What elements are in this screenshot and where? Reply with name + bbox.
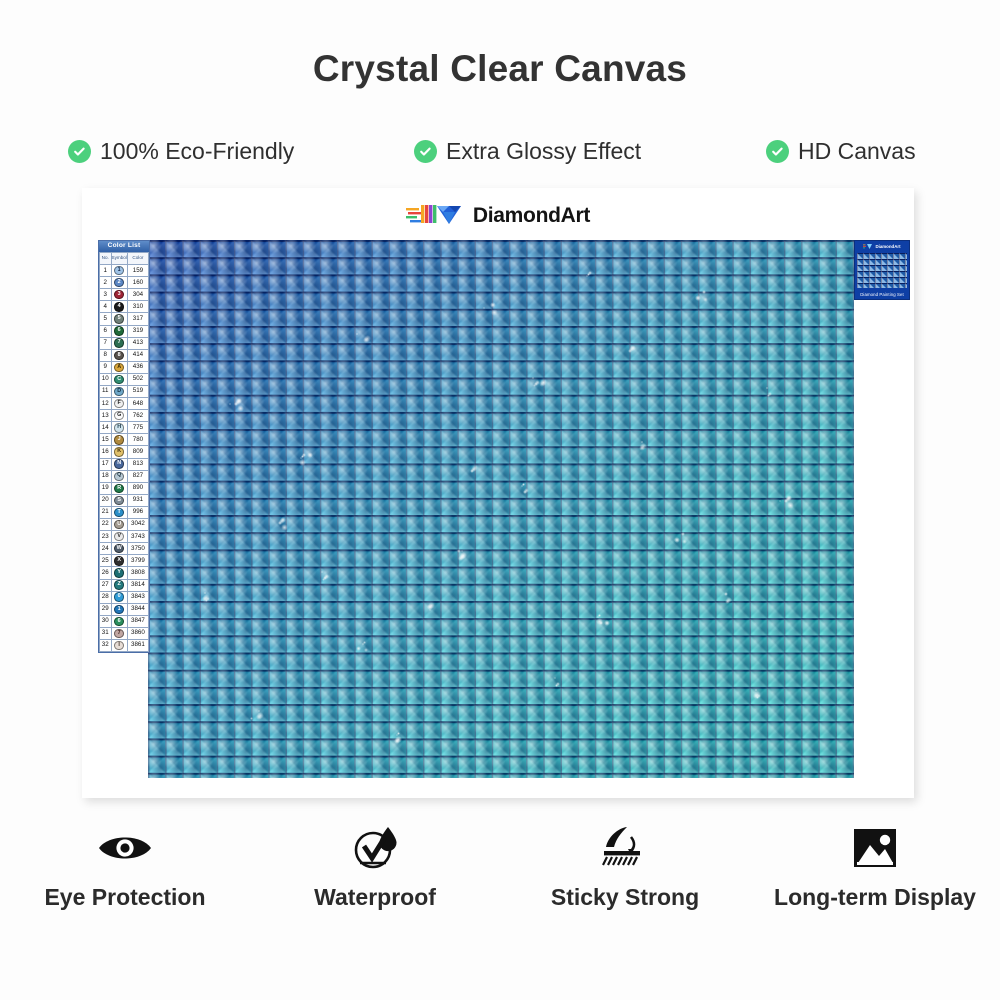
symbol-swatch: I xyxy=(114,641,123,650)
color-list-row: 88414 xyxy=(100,349,149,361)
symbol-swatch: U xyxy=(114,520,123,529)
color-list-row: 10C502 xyxy=(100,373,149,385)
color-row-symbol: S xyxy=(111,494,127,506)
symbol-swatch: Q xyxy=(114,472,123,481)
color-row-code: 414 xyxy=(127,349,148,361)
badge-hd-canvas: HD Canvas xyxy=(766,138,916,165)
kit-inset-logo: DiamondArt xyxy=(855,241,909,252)
color-list-table: No. Symbol Color 11159221603330444310553… xyxy=(99,252,149,652)
color-list-row: 9A436 xyxy=(100,361,149,373)
feature-label: Long-term Display xyxy=(774,884,976,911)
color-list-row: 16K809 xyxy=(100,446,149,458)
color-row-symbol: U xyxy=(111,519,127,531)
color-row-number: 27 xyxy=(100,579,112,591)
color-row-code: 648 xyxy=(127,398,148,410)
color-row-number: 15 xyxy=(100,434,112,446)
color-row-symbol: 1 xyxy=(111,265,127,277)
color-row-code: 160 xyxy=(127,277,148,289)
color-row-number: 20 xyxy=(100,494,112,506)
color-row-symbol: W xyxy=(111,543,127,555)
color-row-code: 3814 xyxy=(127,579,148,591)
color-list-row: 14H775 xyxy=(100,422,149,434)
color-row-code: 3861 xyxy=(127,639,148,651)
color-list-title: Color List xyxy=(99,241,149,252)
symbol-swatch: A xyxy=(114,363,123,372)
color-row-symbol: 7 xyxy=(111,337,127,349)
color-row-number: 26 xyxy=(100,567,112,579)
color-list-row: 3173860 xyxy=(100,627,149,639)
color-row-symbol: Z xyxy=(111,579,127,591)
color-row-symbol: R xyxy=(111,482,127,494)
color-row-symbol: F xyxy=(111,398,127,410)
color-row-number: 14 xyxy=(100,422,112,434)
color-row-number: 23 xyxy=(100,531,112,543)
symbol-swatch: D xyxy=(114,387,123,396)
check-circle-icon xyxy=(68,140,91,163)
color-row-code: 3750 xyxy=(127,543,148,555)
color-row-symbol: 6 xyxy=(111,615,127,627)
feature-label: Eye Protection xyxy=(44,884,205,911)
color-row-code: 519 xyxy=(127,386,148,398)
color-row-code: 775 xyxy=(127,422,148,434)
color-row-symbol: 2 xyxy=(111,277,127,289)
color-row-number: 29 xyxy=(100,603,112,615)
col-header-no: No. xyxy=(100,252,112,264)
color-row-symbol: T xyxy=(111,506,127,518)
color-list-row: 12F648 xyxy=(100,398,149,410)
color-row-number: 4 xyxy=(100,301,112,313)
color-list-row: 77413 xyxy=(100,337,149,349)
color-row-code: 3860 xyxy=(127,627,148,639)
color-row-number: 16 xyxy=(100,446,112,458)
feature-eye-protection: Eye Protection xyxy=(0,824,250,944)
color-row-code: 319 xyxy=(127,325,148,337)
color-row-code: 890 xyxy=(127,482,148,494)
color-row-number: 28 xyxy=(100,591,112,603)
color-row-number: 30 xyxy=(100,615,112,627)
color-list-row: 11159 xyxy=(100,265,149,277)
color-list-row: 20S931 xyxy=(100,494,149,506)
color-row-number: 3 xyxy=(100,289,112,301)
feature-sticky-strong: Sticky Strong xyxy=(500,824,750,944)
color-row-symbol: 1 xyxy=(111,603,127,615)
color-row-code: 413 xyxy=(127,337,148,349)
color-row-code: 304 xyxy=(127,289,148,301)
symbol-swatch: K xyxy=(114,447,123,456)
waterdrop-check-icon xyxy=(351,824,399,872)
color-row-number: 32 xyxy=(100,639,112,651)
badge-eco-friendly: 100% Eco-Friendly xyxy=(68,138,294,165)
color-row-code: 3847 xyxy=(127,615,148,627)
color-row-number: 25 xyxy=(100,555,112,567)
color-row-symbol: D xyxy=(111,386,127,398)
color-row-number: 31 xyxy=(100,627,112,639)
symbol-swatch: 8 xyxy=(114,351,123,360)
color-row-code: 159 xyxy=(127,265,148,277)
color-list-row: 13G762 xyxy=(100,410,149,422)
color-list-row: 17N813 xyxy=(100,458,149,470)
eye-icon xyxy=(97,824,153,872)
color-row-symbol: 8 xyxy=(111,349,127,361)
color-row-code: 3844 xyxy=(127,603,148,615)
feature-label: Sticky Strong xyxy=(551,884,699,911)
symbol-swatch: S xyxy=(114,496,123,505)
color-list-row: 25X3799 xyxy=(100,555,149,567)
brand-logo: DiamondArt xyxy=(82,198,914,234)
color-row-symbol: 4 xyxy=(111,301,127,313)
color-row-number: 18 xyxy=(100,470,112,482)
color-list-row: 55317 xyxy=(100,313,149,325)
symbol-swatch: T xyxy=(114,508,123,517)
symbol-swatch: J xyxy=(114,435,123,444)
color-row-symbol: 6 xyxy=(111,325,127,337)
color-row-number: 17 xyxy=(100,458,112,470)
color-list-row: 44310 xyxy=(100,301,149,313)
feature-label: Waterproof xyxy=(314,884,436,911)
symbol-swatch: 2 xyxy=(114,278,123,287)
color-row-number: 24 xyxy=(100,543,112,555)
color-list-row: 66319 xyxy=(100,325,149,337)
picture-icon xyxy=(852,824,898,872)
color-list-row: 23V3743 xyxy=(100,531,149,543)
color-list-row: 19R890 xyxy=(100,482,149,494)
color-row-code: 809 xyxy=(127,446,148,458)
color-row-code: 3808 xyxy=(127,567,148,579)
color-row-code: 827 xyxy=(127,470,148,482)
color-list-row: 21T996 xyxy=(100,506,149,518)
color-row-symbol: I xyxy=(111,639,127,651)
color-row-code: 502 xyxy=(127,373,148,385)
color-row-symbol: 0 xyxy=(111,591,127,603)
symbol-swatch: W xyxy=(114,544,123,553)
feature-row: Eye Protection Waterproof xyxy=(0,824,1000,944)
symbol-swatch: N xyxy=(114,459,123,468)
symbol-swatch: C xyxy=(114,375,123,384)
color-row-number: 10 xyxy=(100,373,112,385)
color-row-symbol: X xyxy=(111,555,127,567)
symbol-swatch: X xyxy=(114,556,123,565)
feature-badge-row: 100% Eco-Friendly Extra Glossy Effect HD… xyxy=(0,131,1000,171)
diamond-mosaic-artwork xyxy=(148,240,854,778)
color-row-code: 3743 xyxy=(127,531,148,543)
color-row-code: 310 xyxy=(127,301,148,313)
symbol-swatch: V xyxy=(114,532,123,541)
diamond-logo-icon xyxy=(406,201,466,232)
color-list-row: 27Z3814 xyxy=(100,579,149,591)
feature-waterproof: Waterproof xyxy=(250,824,500,944)
color-row-number: 22 xyxy=(100,519,112,531)
adhesive-brush-icon xyxy=(600,824,650,872)
color-row-code: 762 xyxy=(127,410,148,422)
symbol-swatch: 6 xyxy=(114,326,123,335)
symbol-swatch: R xyxy=(114,484,123,493)
symbol-swatch: F xyxy=(114,399,123,408)
color-row-number: 5 xyxy=(100,313,112,325)
color-row-number: 13 xyxy=(100,410,112,422)
symbol-swatch: G xyxy=(114,411,123,420)
color-row-number: 2 xyxy=(100,277,112,289)
color-row-code: 780 xyxy=(127,434,148,446)
color-row-symbol: Q xyxy=(111,470,127,482)
feature-long-term-display: Long-term Display xyxy=(750,824,1000,944)
check-circle-icon xyxy=(414,140,437,163)
color-list-row: 18Q827 xyxy=(100,470,149,482)
color-row-code: 931 xyxy=(127,494,148,506)
color-row-symbol: N xyxy=(111,458,127,470)
diamond-tile-grid xyxy=(148,240,854,778)
color-list-row: 22U3042 xyxy=(100,519,149,531)
color-list-row: 22160 xyxy=(100,277,149,289)
color-list-row: 3063847 xyxy=(100,615,149,627)
color-row-code: 996 xyxy=(127,506,148,518)
color-row-symbol: H xyxy=(111,422,127,434)
color-row-symbol: 5 xyxy=(111,313,127,325)
symbol-swatch: 4 xyxy=(114,302,123,311)
color-list-header-row: No. Symbol Color xyxy=(100,252,149,264)
color-row-number: 19 xyxy=(100,482,112,494)
color-row-number: 12 xyxy=(100,398,112,410)
symbol-swatch: 5 xyxy=(114,314,123,323)
color-list-row: 15J780 xyxy=(100,434,149,446)
color-list-row: 2913844 xyxy=(100,603,149,615)
symbol-swatch: Y xyxy=(114,568,123,577)
symbol-swatch: 7 xyxy=(114,629,123,638)
color-list-row: 24W3750 xyxy=(100,543,149,555)
color-list-legend: Color List No. Symbol Color 111592216033… xyxy=(98,240,150,653)
color-row-code: 3799 xyxy=(127,555,148,567)
col-header-symbol: Symbol xyxy=(111,252,127,264)
color-row-symbol: V xyxy=(111,531,127,543)
badge-label: HD Canvas xyxy=(798,138,916,165)
color-row-number: 21 xyxy=(100,506,112,518)
color-list-row: 32I3861 xyxy=(100,639,149,651)
color-row-symbol: J xyxy=(111,434,127,446)
color-row-code: 3843 xyxy=(127,591,148,603)
symbol-swatch: 6 xyxy=(114,617,123,626)
col-header-color: Color xyxy=(127,252,148,264)
diamond-logo-icon xyxy=(863,243,873,250)
badge-label: Extra Glossy Effect xyxy=(446,138,641,165)
page-title: Crystal Clear Canvas xyxy=(0,48,1000,90)
kit-inset-caption: Diamond Painting Set xyxy=(855,292,909,297)
symbol-swatch: 1 xyxy=(114,605,123,614)
color-row-symbol: 7 xyxy=(111,627,127,639)
kit-inset-thumbnail: DiamondArt Diamond Painting Set xyxy=(854,240,910,300)
color-row-number: 9 xyxy=(100,361,112,373)
color-row-code: 3042 xyxy=(127,519,148,531)
color-row-symbol: K xyxy=(111,446,127,458)
color-row-code: 436 xyxy=(127,361,148,373)
color-row-symbol: 3 xyxy=(111,289,127,301)
color-row-symbol: Y xyxy=(111,567,127,579)
symbol-swatch: 7 xyxy=(114,338,123,347)
color-list-row: 11D519 xyxy=(100,386,149,398)
color-list-row: 33304 xyxy=(100,289,149,301)
badge-glossy-effect: Extra Glossy Effect xyxy=(414,138,641,165)
symbol-swatch: Z xyxy=(114,580,123,589)
color-row-code: 317 xyxy=(127,313,148,325)
product-canvas-frame: DiamondArt Color List No. Symbol Color 1… xyxy=(82,188,914,798)
check-circle-icon xyxy=(766,140,789,163)
brand-name: DiamondArt xyxy=(473,204,590,228)
color-row-number: 7 xyxy=(100,337,112,349)
symbol-swatch: 3 xyxy=(114,290,123,299)
color-row-symbol: C xyxy=(111,373,127,385)
color-row-number: 8 xyxy=(100,349,112,361)
badge-label: 100% Eco-Friendly xyxy=(100,138,294,165)
color-row-symbol: G xyxy=(111,410,127,422)
color-row-number: 11 xyxy=(100,386,112,398)
color-list-row: 26Y3808 xyxy=(100,567,149,579)
kit-brand-name: DiamondArt xyxy=(875,244,900,249)
color-row-number: 1 xyxy=(100,265,112,277)
color-list-row: 2803843 xyxy=(100,591,149,603)
symbol-swatch: H xyxy=(114,423,123,432)
symbol-swatch: 1 xyxy=(114,266,123,275)
color-row-code: 813 xyxy=(127,458,148,470)
color-row-number: 6 xyxy=(100,325,112,337)
kit-inset-grid xyxy=(857,253,907,288)
color-row-symbol: A xyxy=(111,361,127,373)
symbol-swatch: 0 xyxy=(114,592,123,601)
